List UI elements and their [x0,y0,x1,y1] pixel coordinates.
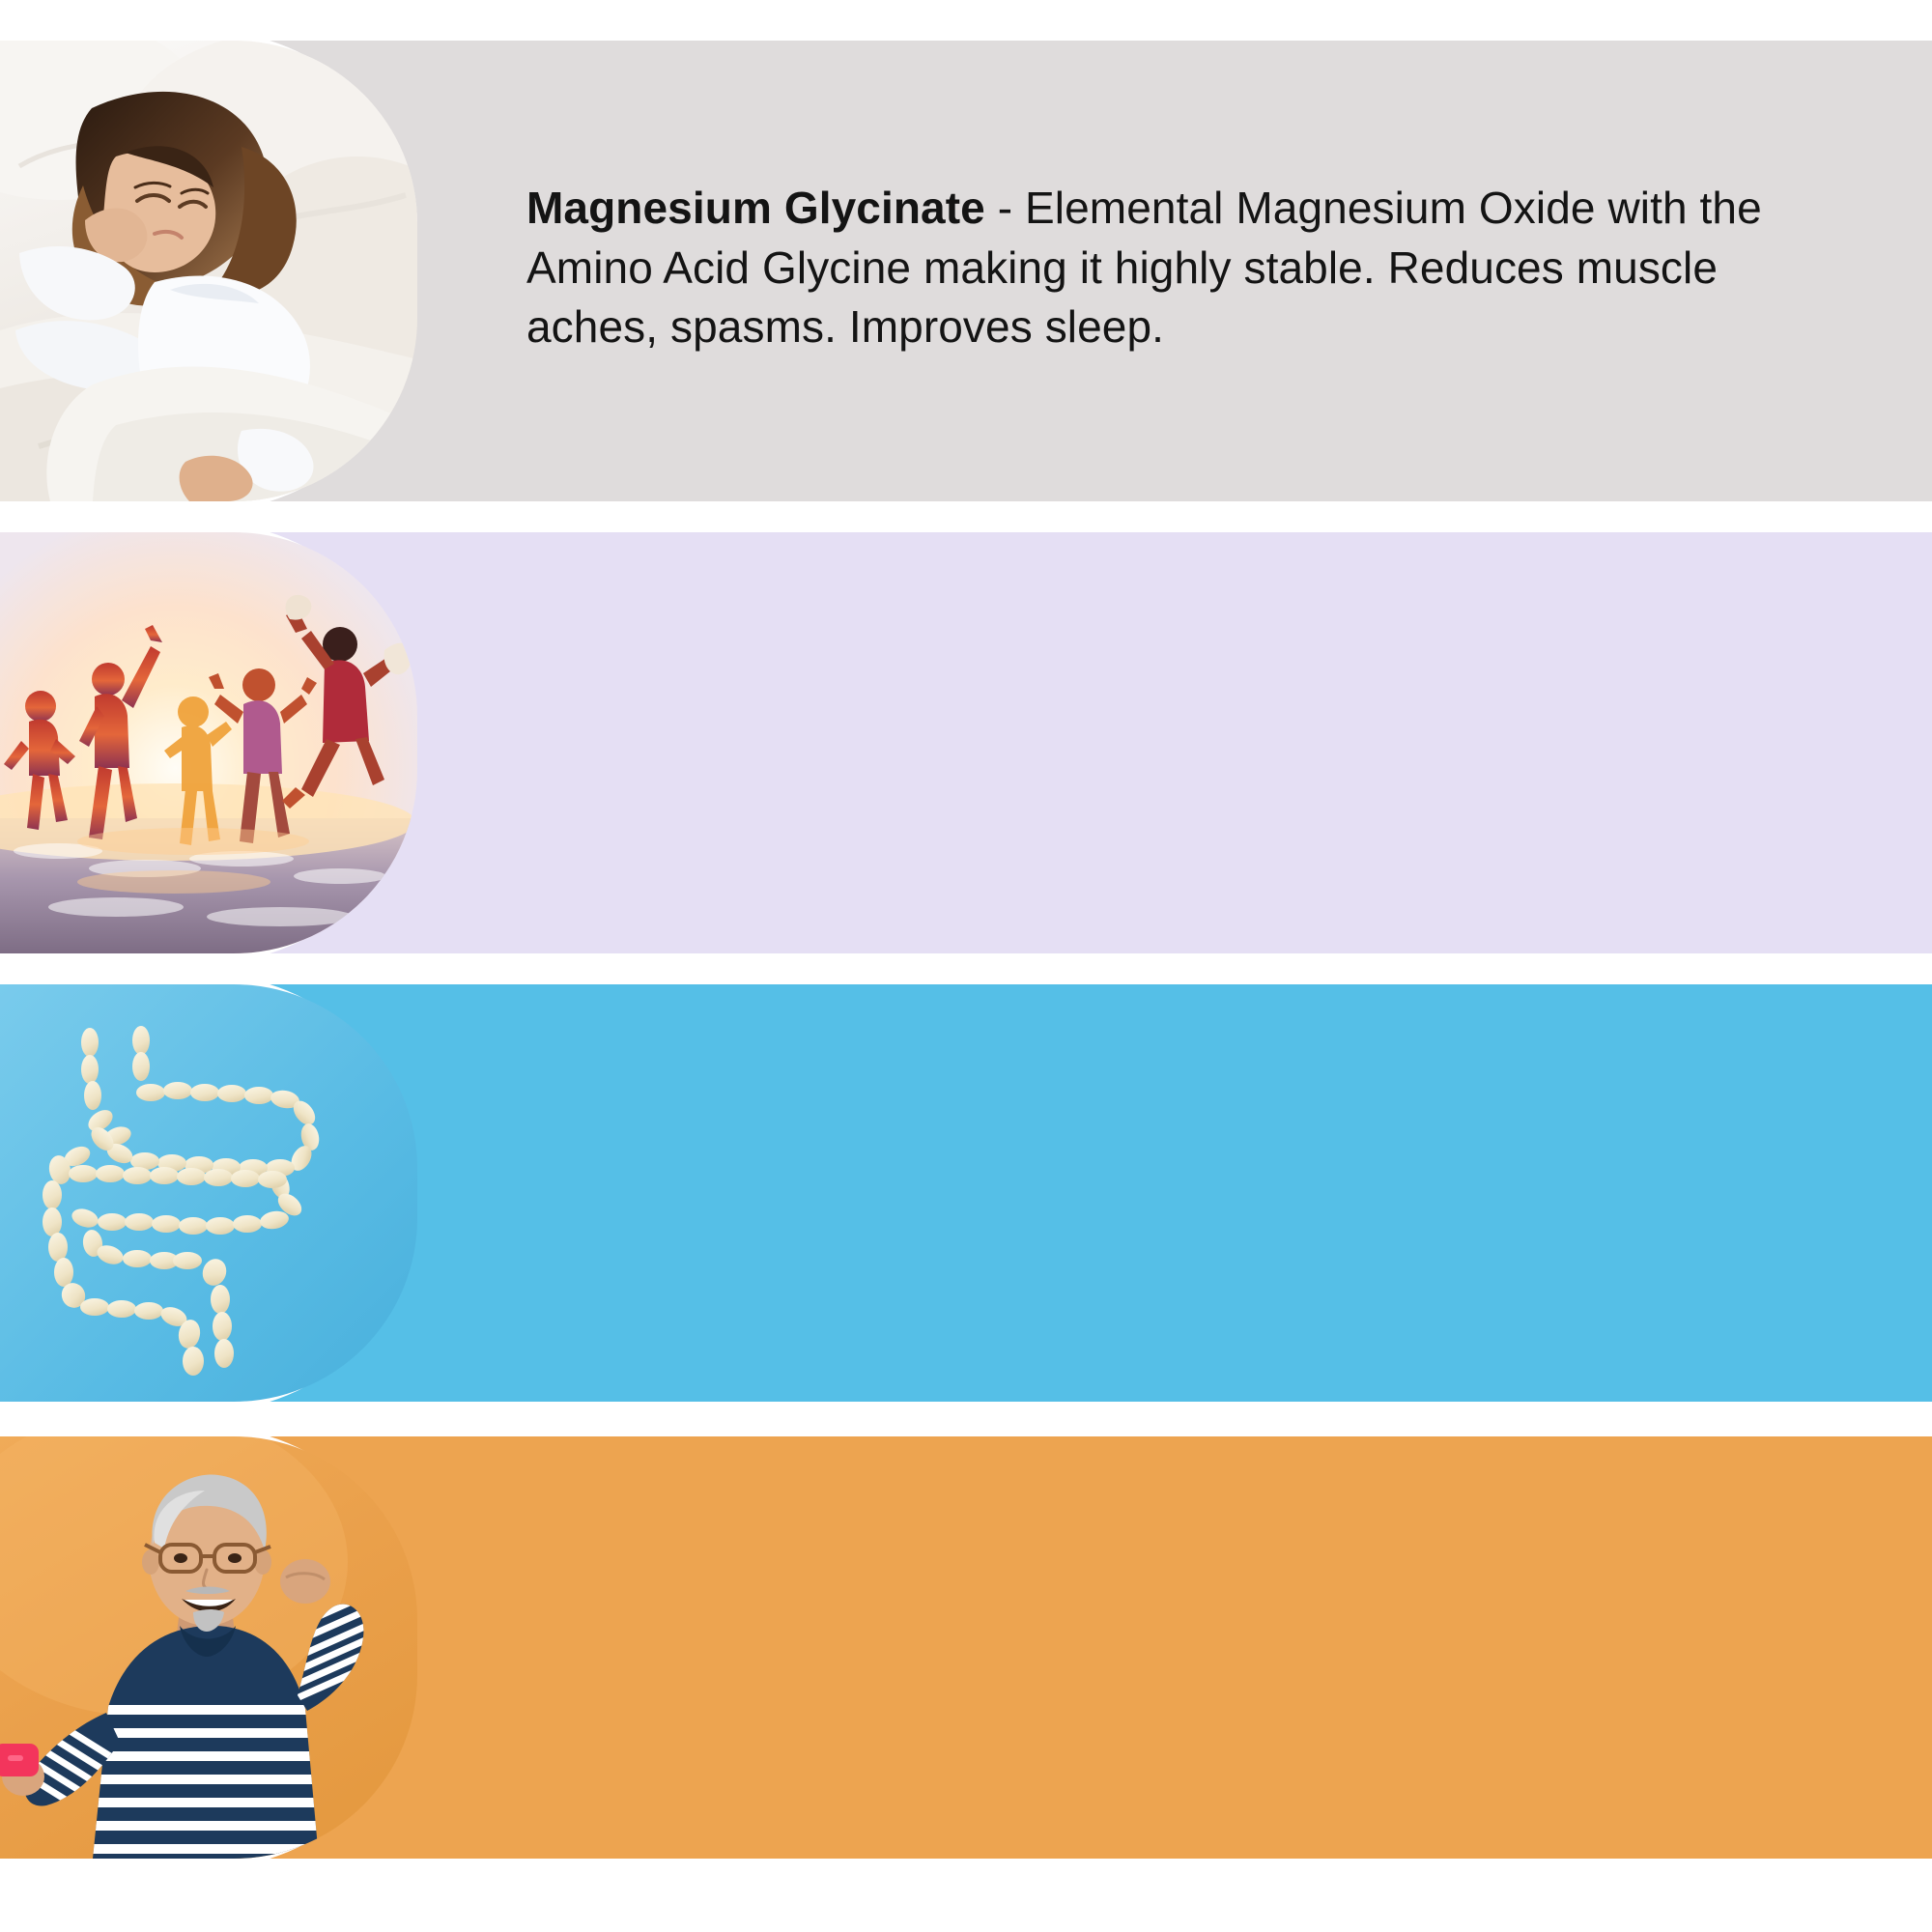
ingredient-card-magnesium-glycinate: Magnesium Glycinate - Elemental Magnesiu… [0,41,1932,501]
ingredient-description-1: Magnesium Glycinate - Elemental Magnesiu… [526,179,1855,357]
photo-artwork-4 [0,1436,417,1859]
ingredient-card-sucrosomial-magnesium: Sucrosomial Magnesium - The application … [0,984,1932,1402]
ingredient-card-magnesium-citrate: Magnesium Citrate - Magnesium bound with… [0,532,1932,953]
woman-sleeping-in-bed-photo [0,41,417,501]
pink-dumbbell [0,1744,39,1776]
photo-artwork-2 [0,532,417,953]
ingredient-card-manganese-citrate-vitamin-b6: Manganese Citrate & Vitamin B6 - Support… [0,1436,1932,1859]
senior-man-flexing-with-dumbbell-photo [0,1436,417,1859]
ingredient-separator-1: - [985,183,1025,233]
photo-artwork-3 [0,984,417,1402]
friends-jumping-at-sunset-beach-photo [0,532,417,953]
ingredient-benefits-infographic: Magnesium Glycinate - Elemental Magnesiu… [0,0,1932,1932]
capsules-arranged-as-intestine-photo [0,984,417,1402]
photo-artwork-1 [0,41,417,501]
ingredient-heading-1: Magnesium Glycinate [526,183,985,233]
